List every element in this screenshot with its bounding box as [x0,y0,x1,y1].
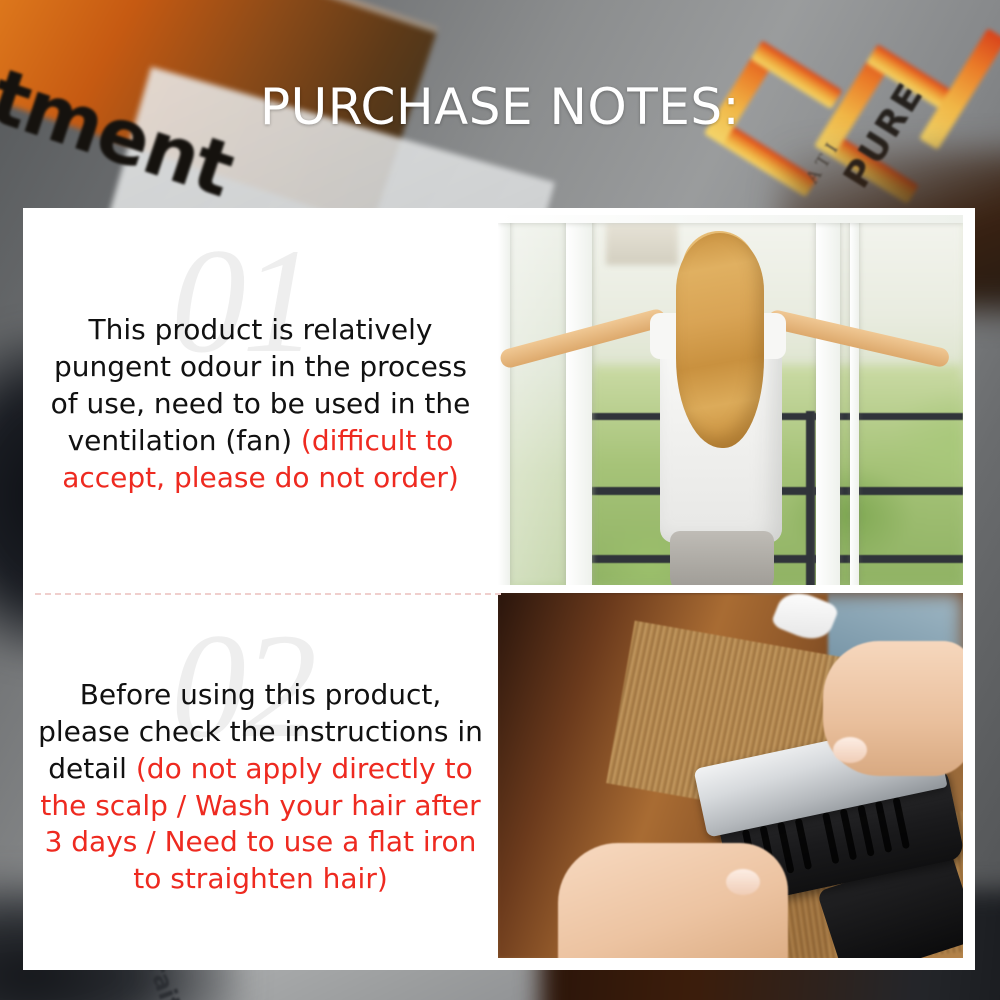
section-divider [35,593,501,595]
note-text: Before using this product, please check … [23,677,498,899]
note-image-cell [498,593,975,970]
note-image-cell [498,208,975,593]
note-text-cell: 01 This product is relatively pungent od… [23,208,498,593]
note-text: This product is relatively pungent odour… [23,312,498,497]
woman-opening-window-photo [498,215,963,585]
flat-iron-straightening-hair-photo [498,593,963,958]
note-text-cell: 02 Before using this product, please che… [23,593,498,970]
note-row: 01 This product is relatively pungent od… [23,208,975,593]
note-row: 02 Before using this product, please che… [23,593,975,970]
purchase-notes-card: 01 This product is relatively pungent od… [23,208,975,970]
page-title: PURCHASE NOTES: [0,78,1000,136]
